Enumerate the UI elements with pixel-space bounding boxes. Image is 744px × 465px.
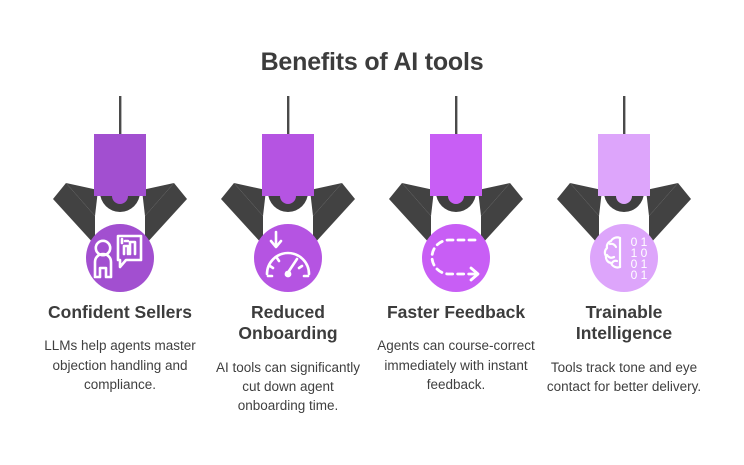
svg-text:0: 0 (631, 268, 638, 282)
banner-rect (262, 134, 314, 196)
flagpole-line (455, 96, 457, 134)
banner-rect (430, 134, 482, 196)
figure-faster-feedback (372, 96, 540, 296)
banner-rect (94, 134, 146, 196)
benefit-heading: Faster Feedback (376, 302, 536, 323)
figure-reduced-onboarding (204, 96, 372, 296)
svg-text:1: 1 (641, 268, 648, 282)
figure-confident-sellers (36, 96, 204, 296)
icon-circle (590, 224, 658, 292)
benefit-body: Tools track tone and eye contact for bet… (544, 358, 704, 396)
banner-rect (598, 134, 650, 196)
page-title: Benefits of AI tools (0, 48, 744, 77)
benefit-column-reduced-onboarding: Reduced Onboarding AI tools can signific… (204, 96, 372, 415)
flagpole-line (623, 96, 625, 134)
benefit-heading: Trainable Intelligence (544, 302, 704, 345)
icon-circle (254, 224, 322, 292)
figure-trainable-intelligence: 01 10 01 01 (540, 96, 708, 296)
flagpole-line (287, 96, 289, 134)
benefit-heading: Confident Sellers (40, 302, 200, 323)
benefit-column-confident-sellers: Confident Sellers LLMs help agents maste… (36, 96, 204, 394)
benefit-columns: Confident Sellers LLMs help agents maste… (0, 96, 744, 415)
benefit-column-faster-feedback: Faster Feedback Agents can course-correc… (372, 96, 540, 394)
benefit-column-trainable-intelligence: 01 10 01 01 Trainable Intelligence Tools… (540, 96, 708, 396)
infographic-canvas: Benefits of AI tools (0, 0, 744, 465)
benefit-body: Agents can course-correct immediately wi… (376, 336, 536, 393)
flagpole-line (119, 96, 121, 134)
benefit-heading: Reduced Onboarding (208, 302, 368, 345)
benefit-body: LLMs help agents master objection handli… (40, 336, 200, 393)
benefit-body: AI tools can significantly cut down agen… (208, 358, 368, 415)
